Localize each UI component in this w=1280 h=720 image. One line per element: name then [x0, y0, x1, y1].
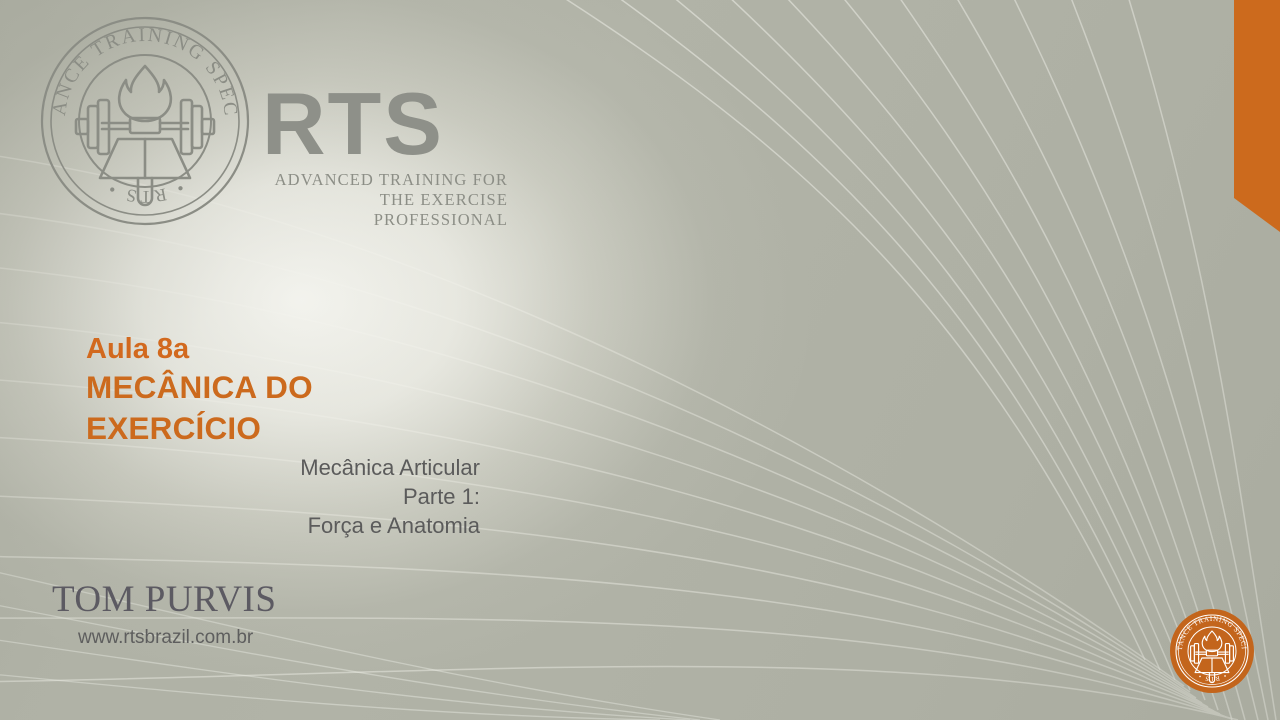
svg-text:• RTS •: • RTS •: [102, 178, 188, 207]
lesson-number: Aula 8a: [86, 333, 486, 367]
subtitle-line-1: Mecânica Articular: [86, 453, 480, 482]
title-block: Aula 8a MECÂNICA DO EXERCÍCIO Mecânica A…: [86, 333, 486, 540]
rts-tagline: ADVANCED TRAINING FOR THE EXERCISE PROFE…: [262, 170, 508, 230]
rts-badge-seal: RESISTANCE TRAINING SPECIALIST • RTS •: [1169, 608, 1255, 694]
orange-corner-banner: [1234, 0, 1280, 232]
website-url[interactable]: www.rtsbrazil.com.br: [78, 627, 382, 650]
rts-wordmark-text: RTS: [262, 82, 562, 166]
rts-seal-logo: RESISTANCE TRAINING SPECIALIST • RTS •: [36, 12, 254, 230]
author-block: TOM PURVIS www.rtsbrazil.com.br: [52, 580, 382, 649]
subtitle-block: Mecânica Articular Parte 1: Força e Anat…: [86, 453, 480, 540]
page-title: MECÂNICA DO EXERCÍCIO: [86, 367, 486, 449]
subtitle-line-3: Força e Anatomia: [86, 511, 480, 540]
svg-text:RESISTANCE TRAINING SPECIALIST: RESISTANCE TRAINING SPECIALIST: [36, 12, 241, 119]
presentation-slide: RESISTANCE TRAINING SPECIALIST • RTS •: [0, 0, 1280, 720]
author-name: TOM PURVIS: [52, 580, 382, 621]
rts-wordmark: RTS ADVANCED TRAINING FOR THE EXERCISE P…: [262, 82, 562, 230]
subtitle-line-2: Parte 1:: [86, 482, 480, 511]
